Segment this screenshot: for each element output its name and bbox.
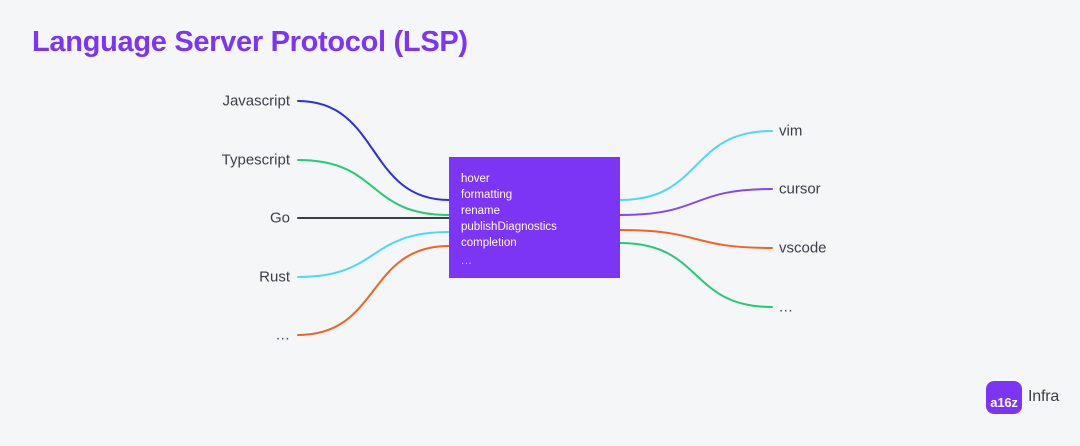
editor-label-cursor: cursor (779, 182, 821, 197)
slide-canvas: Language Server Protocol (LSP) hover for… (0, 0, 1080, 446)
protocol-method-rename: rename (461, 203, 620, 219)
a16z-logo-mark-text: a16z (990, 396, 1017, 409)
a16z-logo-wordmark: Infra (1028, 389, 1059, 407)
language-label-javascript: Javascript (222, 94, 290, 109)
a16z-infra-logo: a16z Infra (986, 381, 1059, 414)
edge-lsp-to-more (620, 243, 772, 307)
edge-javascript-to-lsp (298, 101, 449, 200)
lsp-protocol-box: hover formatting rename publishDiagnosti… (449, 157, 620, 278)
language-label-typescript: Typescript (222, 153, 290, 168)
language-label-more: ... (276, 328, 290, 343)
edge-typescript-to-lsp (298, 160, 449, 215)
language-label-rust: Rust (259, 270, 290, 285)
editor-label-more: ... (779, 300, 793, 315)
editor-label-vim: vim (779, 124, 802, 139)
edge-more-to-lsp (298, 246, 449, 335)
a16z-logo-mark: a16z (986, 381, 1022, 414)
editor-label-vscode: vscode (779, 241, 827, 256)
protocol-method-hover: hover (461, 171, 620, 187)
protocol-method-publishdiagnostics: publishDiagnostics (461, 219, 620, 235)
edge-rust-to-lsp (298, 232, 449, 277)
edge-lsp-to-cursor (620, 189, 772, 215)
protocol-method-completion: completion (461, 235, 620, 251)
protocol-method-formatting: formatting (461, 187, 620, 203)
language-label-go: Go (270, 211, 290, 226)
protocol-method-more: ... (461, 251, 620, 269)
